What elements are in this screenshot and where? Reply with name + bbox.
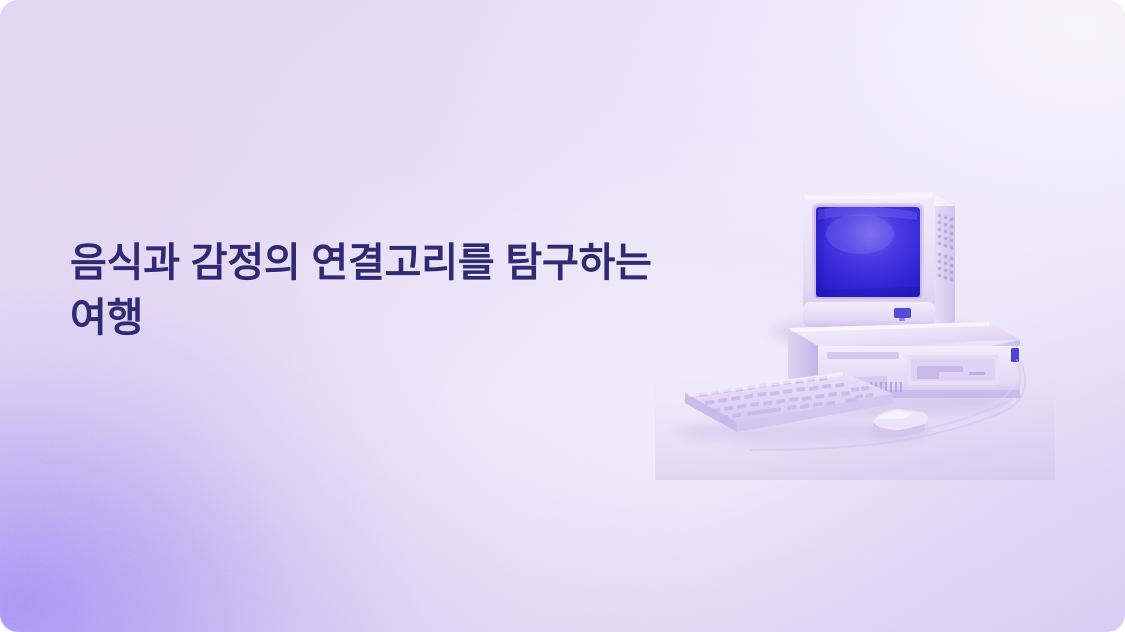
- retro-computer-illustration: [655, 150, 1055, 480]
- floppy-drive: [907, 355, 999, 385]
- banner-title: 음식과 감정의 연결고리를 탐구하는 여행: [70, 236, 680, 346]
- crt-screen: [816, 206, 920, 297]
- hero-banner: 음식과 감정의 연결고리를 탐구하는 여행: [0, 0, 1125, 632]
- logo-badge: [894, 308, 911, 318]
